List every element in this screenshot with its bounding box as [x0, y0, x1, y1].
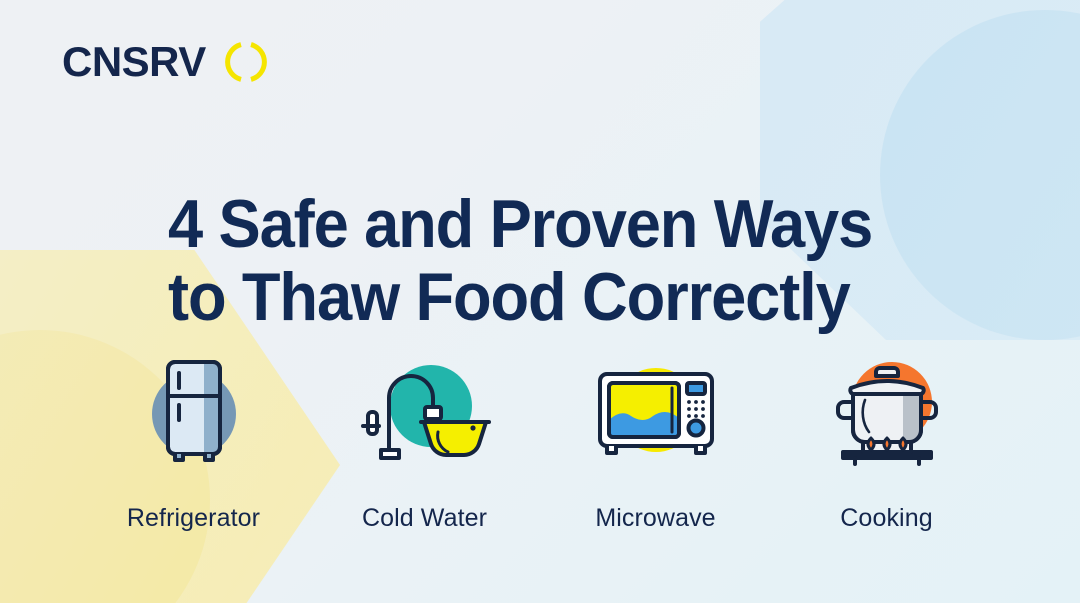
refrigerator-icon	[124, 352, 264, 472]
method-cooking[interactable]: Cooking	[771, 352, 1002, 533]
thawing-methods-row: Refrigerator	[78, 352, 1002, 533]
method-refrigerator[interactable]: Refrigerator	[78, 352, 309, 533]
brand-name: CNSRV	[62, 41, 206, 83]
microwave-icon	[586, 352, 726, 472]
method-label: Refrigerator	[127, 504, 260, 533]
poster-canvas: CNSRV 4 Safe and Proven Ways to Thaw Foo…	[0, 0, 1080, 603]
page-title: 4 Safe and Proven Ways to Thaw Food Corr…	[168, 188, 912, 335]
cooking-pot-icon	[817, 352, 957, 472]
method-label: Cooking	[840, 504, 932, 533]
method-label: Microwave	[595, 504, 715, 533]
faucet-bowl-icon	[355, 352, 495, 472]
broken-circle-mark-icon	[224, 40, 268, 84]
page-title-line-2: to Thaw Food Correctly	[168, 261, 912, 334]
method-microwave[interactable]: Microwave	[540, 352, 771, 533]
method-label: Cold Water	[362, 504, 487, 533]
method-cold-water[interactable]: Cold Water	[309, 352, 540, 533]
page-title-line-1: 4 Safe and Proven Ways	[168, 188, 912, 261]
brand-logo[interactable]: CNSRV	[62, 40, 268, 84]
